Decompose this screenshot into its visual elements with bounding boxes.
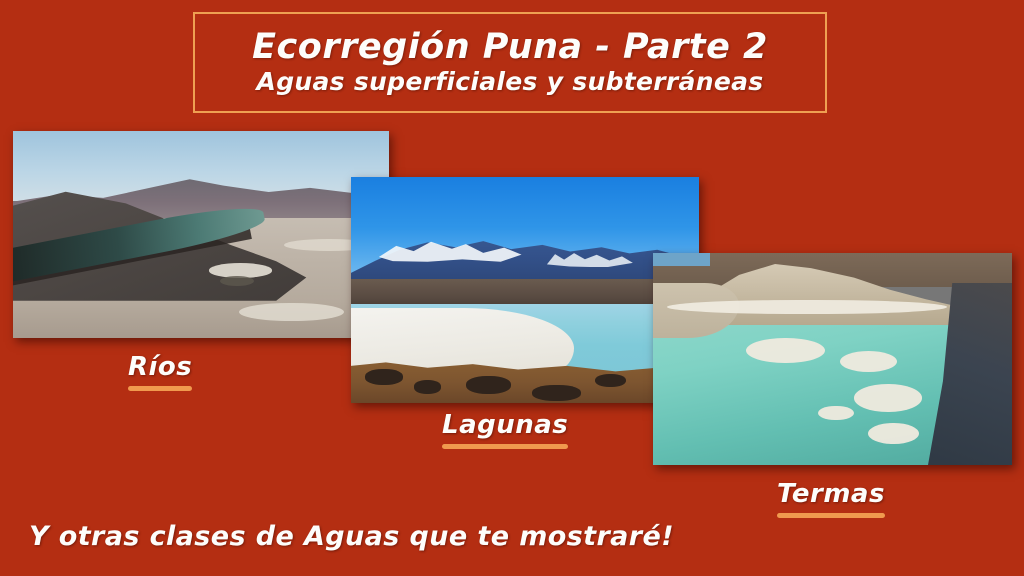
photo-rios — [13, 131, 389, 338]
page-title: Ecorregión Puna - Parte 2 — [252, 29, 768, 66]
caption-termas: Termas — [777, 480, 885, 518]
caption-label: Termas — [777, 480, 885, 509]
photo-termas — [653, 253, 1012, 465]
pond-patch — [220, 276, 254, 286]
rock — [365, 369, 403, 385]
salt-crust — [854, 384, 922, 412]
caption-underline — [128, 386, 192, 391]
rock — [466, 376, 511, 394]
caption-underline — [777, 513, 885, 518]
rock — [595, 374, 626, 388]
caption-underline — [442, 444, 568, 449]
salt-crust — [840, 351, 897, 372]
caption-lagunas: Lagunas — [442, 411, 568, 449]
rock — [532, 385, 581, 401]
caption-label: Ríos — [128, 353, 192, 382]
sky-layer — [653, 253, 710, 266]
salt-crust — [868, 423, 918, 444]
page-subtitle: Aguas superficiales y subterráneas — [257, 68, 764, 96]
title-box: Ecorregión Puna - Parte 2 Aguas superfic… — [193, 12, 827, 113]
caption-label: Lagunas — [442, 411, 568, 440]
footer-text: Y otras clases de Aguas que te mostraré! — [29, 521, 674, 552]
caption-rios: Ríos — [128, 353, 192, 391]
photo-lagunas — [351, 177, 699, 403]
slide-canvas: Ecorregión Puna - Parte 2 Aguas superfic… — [0, 0, 1024, 576]
rock — [414, 380, 442, 394]
